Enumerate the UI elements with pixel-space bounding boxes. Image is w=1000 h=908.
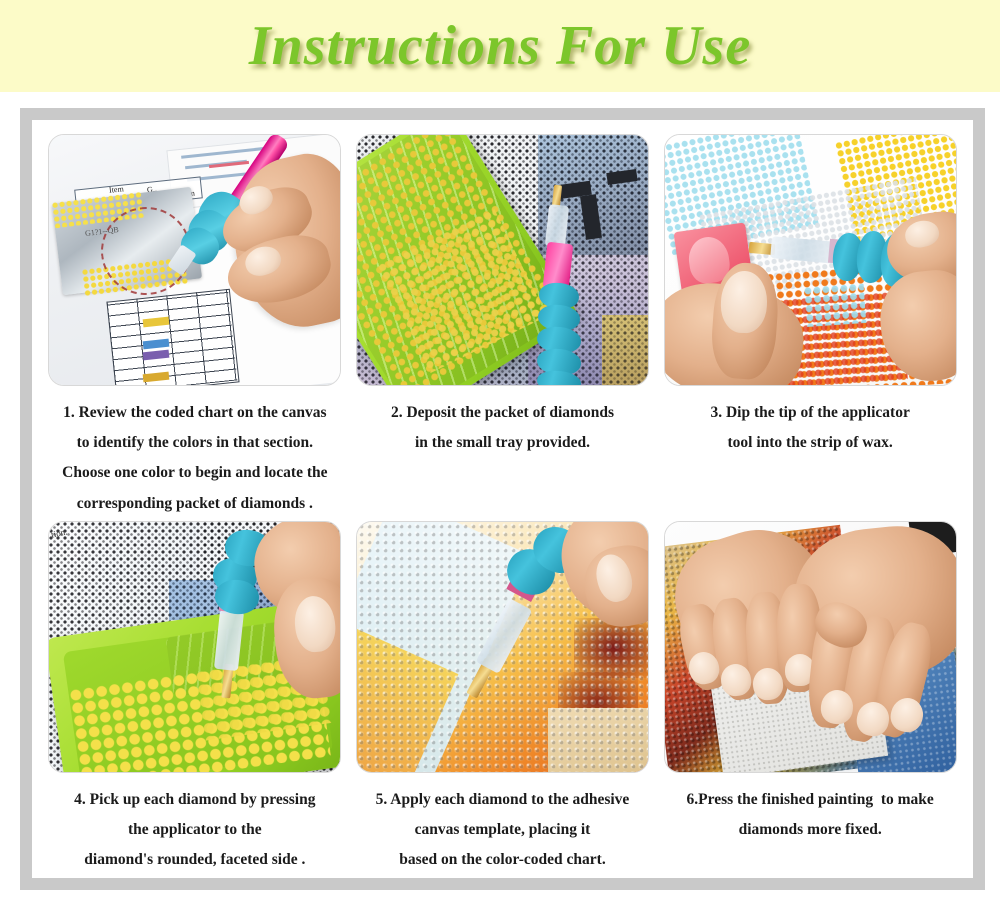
step-6-photo [664,521,957,773]
step-2-caption: 2. Deposit the packet of diamonds in the… [352,398,652,458]
step-5-photo [356,521,649,773]
instructions-page: Instructions For Use [0,0,1000,908]
step-2: 2. Deposit the packet of diamonds in the… [352,134,654,519]
title-banner: Instructions For Use [0,0,1000,92]
step-4-photo: tion. [48,521,341,773]
step-3-photo [664,134,957,386]
gray-frame: Item G.. cm G1?1--QB [20,108,985,890]
step-6-caption: 6.Press the finished painting to make di… [660,785,960,845]
step-1-photo: Item G.. cm G1?1--QB [48,134,341,386]
step-2-photo [356,134,649,386]
step-4: tion. [44,521,346,876]
steps-grid: Item G.. cm G1?1--QB [32,120,973,878]
step-5-caption: 5. Apply each diamond to the adhesive ca… [352,785,652,876]
step-5: 5. Apply each diamond to the adhesive ca… [352,521,654,876]
step-4-caption: 4. Pick up each diamond by pressing the … [45,785,345,876]
step-1-caption: 1. Review the coded chart on the canvas … [45,398,345,519]
step-3-caption: 3. Dip the tip of the applicator tool in… [660,398,960,458]
page-title: Instructions For Use [249,14,751,78]
step-6: 6.Press the finished painting to make di… [659,521,961,876]
step-1: Item G.. cm G1?1--QB [44,134,346,519]
step-3: 3. Dip the tip of the applicator tool in… [659,134,961,519]
frame-inner: Item G.. cm G1?1--QB [32,120,973,878]
